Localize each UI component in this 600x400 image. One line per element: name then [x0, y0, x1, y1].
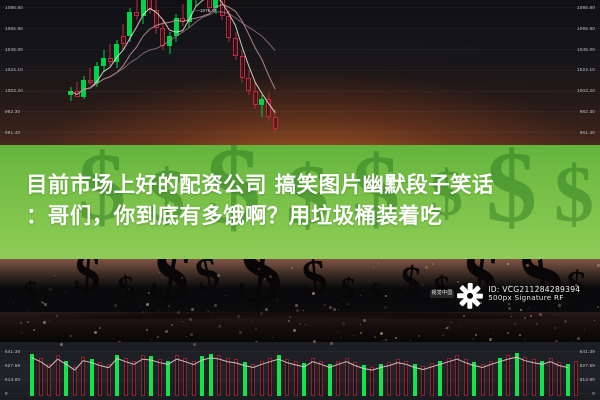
- bokeh-dot: [507, 263, 509, 265]
- watermark-brand-cn: 视觉中国: [430, 290, 454, 298]
- bokeh-dot: [181, 277, 183, 279]
- bokeh-dot: [571, 341, 572, 342]
- bokeh-dot: [585, 306, 586, 307]
- bokeh-dot: [264, 278, 266, 280]
- axis-tick-left: 982.30: [5, 109, 20, 114]
- bokeh-dot: [49, 288, 52, 291]
- bokeh-dot: [162, 277, 163, 278]
- bokeh-dot: [536, 323, 538, 325]
- bokeh-dot: [296, 309, 299, 312]
- bokeh-dot: [65, 291, 66, 292]
- bokeh-dot: [258, 268, 260, 270]
- watermark: 视觉中国 ID: VCG211284289394 500px Signature…: [430, 281, 580, 307]
- axis-tick-right: 1045.00: [577, 47, 595, 52]
- axis-tick-right: 0: [592, 391, 595, 396]
- bokeh-dot: [146, 329, 148, 331]
- watermark-license: 500px Signature RF: [488, 294, 580, 303]
- axis-tick-left: 613.80: [5, 377, 20, 382]
- axis-tick-left: 1003.20: [5, 88, 23, 93]
- bokeh-dot: [305, 324, 306, 325]
- bokeh-dot: [555, 340, 558, 342]
- bokeh-dot: [360, 324, 361, 325]
- bokeh-dot: [225, 261, 226, 262]
- axis-tick-right: 613.80: [580, 377, 595, 382]
- axis-tick-left: 961.40: [5, 130, 20, 135]
- bokeh-dot: [94, 331, 97, 334]
- volume-chart-panel: 641.39627.59613.800 641.39627.59613.800: [0, 342, 600, 400]
- bokeh-dot: [472, 338, 474, 340]
- axis-tick-right: 1065.90: [577, 26, 595, 31]
- bokeh-dot: [269, 275, 272, 278]
- bokeh-dot: [363, 319, 366, 322]
- axis-tick-left: 1045.00: [5, 47, 23, 52]
- axis-tick-right: 982.30: [580, 109, 595, 114]
- volume-ma-line: [0, 342, 600, 400]
- bokeh-dot: [212, 312, 213, 313]
- axis-tick-right: 641.39: [580, 349, 595, 354]
- screenshot-root: 1086.801065.901045.001024.101003.20982.3…: [0, 0, 600, 400]
- bokeh-dot: [118, 341, 121, 342]
- bokeh-dot: [539, 313, 542, 316]
- bokeh-dot: [424, 278, 425, 279]
- bokeh-dot: [159, 272, 160, 273]
- moving-average-lines: [0, 0, 600, 152]
- bokeh-dot: [312, 292, 315, 295]
- bokeh-dot: [164, 281, 165, 282]
- bokeh-dot: [463, 315, 465, 317]
- bokeh-dot: [373, 267, 374, 268]
- bokeh-dot: [207, 310, 209, 312]
- bokeh-dot: [597, 264, 600, 267]
- bokeh-dot: [255, 328, 257, 330]
- bokeh-dot: [385, 295, 387, 297]
- bokeh-dot: [584, 329, 585, 330]
- headline-line-1: 目前市场上好的配资公司 搞笑图片幽默段子笑话: [26, 171, 574, 202]
- bokeh-dot: [303, 310, 304, 311]
- axis-tick-left: 641.39: [5, 349, 20, 354]
- bokeh-dot: [530, 315, 532, 317]
- bokeh-dot: [475, 334, 477, 336]
- bokeh-dot: [217, 274, 220, 277]
- bokeh-dot: [432, 263, 434, 265]
- bokeh-dot: [272, 337, 273, 338]
- bokeh-dot: [114, 304, 117, 307]
- bokeh-dot: [357, 260, 358, 261]
- starburst-ray: [468, 299, 473, 309]
- bokeh-dot: [342, 300, 343, 301]
- candlestick-chart-panel: 1086.801065.901045.001024.101003.20982.3…: [0, 0, 600, 152]
- bokeh-dot: [54, 275, 55, 276]
- bokeh-dot: [524, 317, 526, 319]
- bokeh-dot: [508, 307, 511, 310]
- headline-band: $$$$$$$$ 目前市场上好的配资公司 搞笑图片幽默段子笑话 ：哥们，你到底有…: [0, 145, 600, 259]
- bokeh-dot: [360, 295, 361, 296]
- bokeh-dot: [564, 320, 567, 323]
- bokeh-dot: [378, 263, 379, 264]
- bokeh-dot: [128, 288, 130, 290]
- axis-tick-right: 1003.20: [577, 88, 595, 93]
- axis-tick-right: 1024.10: [577, 67, 595, 72]
- axis-tick-left: 1065.90: [5, 26, 23, 31]
- bokeh-dot: [554, 327, 556, 329]
- bokeh-dot: [146, 303, 149, 306]
- bokeh-dot: [425, 266, 428, 269]
- bokeh-dot: [113, 338, 114, 339]
- bokeh-dot: [288, 320, 290, 322]
- bokeh-dot: [520, 309, 522, 311]
- axis-tick-left: 1024.10: [5, 67, 23, 72]
- axis-tick-right: 961.40: [580, 130, 595, 135]
- bokeh-dot: [214, 304, 217, 307]
- bokeh-dot: [190, 333, 193, 336]
- bokeh-dot: [148, 292, 150, 294]
- watermark-text: ID: VCG211284289394 500px Signature RF: [488, 285, 580, 303]
- bokeh-dot: [293, 329, 296, 332]
- headline-line-2: ：哥们，你到底有多饿啊？用垃圾桶装着吃: [26, 202, 574, 233]
- bokeh-dot: [329, 306, 332, 309]
- bokeh-dot: [380, 332, 383, 335]
- bokeh-dot: [577, 337, 580, 340]
- bokeh-dot: [422, 284, 424, 286]
- axis-tick-left: 627.59: [5, 363, 20, 368]
- bokeh-dot: [594, 320, 595, 321]
- bokeh-dot: [56, 315, 58, 317]
- bokeh-dot: [374, 336, 376, 338]
- bokeh-dot: [291, 267, 293, 269]
- bokeh-dot: [20, 322, 22, 324]
- bokeh-dot: [255, 341, 258, 342]
- axis-tick-left: 0: [5, 391, 8, 396]
- starburst-icon: [457, 281, 483, 307]
- bokeh-dot: [338, 309, 339, 310]
- bokeh-dot: [42, 302, 44, 304]
- axis-tick-right: 1086.80: [577, 5, 595, 10]
- headline-text-block: 目前市场上好的配资公司 搞笑图片幽默段子笑话 ：哥们，你到底有多饿啊？用垃圾桶装…: [0, 145, 600, 259]
- bokeh-dot: [265, 308, 268, 311]
- axis-tick-left: 1086.80: [5, 5, 23, 10]
- bokeh-dot: [99, 327, 101, 329]
- bokeh-dot: [43, 321, 46, 324]
- price-annotation: ←—1076.45: [191, 8, 217, 13]
- axis-tick-right: 627.59: [580, 363, 595, 368]
- bokeh-dot: [151, 339, 152, 340]
- bokeh-dot: [133, 332, 134, 333]
- bokeh-dot: [526, 264, 529, 267]
- bokeh-dot: [511, 316, 512, 317]
- bokeh-dot: [225, 295, 226, 296]
